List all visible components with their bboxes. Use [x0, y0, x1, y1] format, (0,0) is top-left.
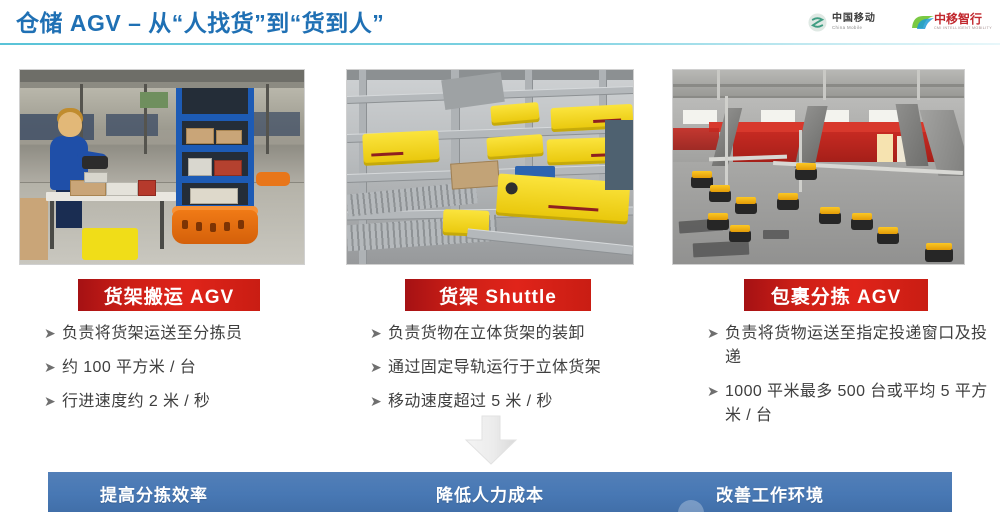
- benefit-item-3: 改善工作环境: [716, 481, 824, 506]
- list-item: ➤ 负责将货物运送至指定投递窗口及投递: [707, 322, 997, 370]
- slide-root: 仓储 AGV – 从“人找货”到“货到人” 中国移动 China Mobile: [0, 0, 1000, 506]
- photo-shelf-transport-agv: [20, 70, 304, 264]
- china-mobile-wordmark: 中国移动 China Mobile: [832, 14, 876, 30]
- arrow-bullet-icon: ➤: [707, 380, 725, 404]
- cmit-wordmark: 中移智行 CMI INTELLIGENT MOBILITY: [934, 13, 992, 31]
- photo-parcel-sorting-agv: [673, 70, 964, 264]
- benefit-item-1: 提高分拣效率: [100, 481, 208, 506]
- china-mobile-swirl-icon: [808, 13, 827, 32]
- decorative-circle-icon: [678, 500, 704, 512]
- arrow-bullet-icon: ➤: [370, 322, 388, 346]
- arrow-bullet-icon: ➤: [44, 322, 62, 346]
- list-item: ➤ 约 100 平方米 / 台: [44, 356, 334, 380]
- column-banner-1: 货架搬运 AGV: [78, 279, 260, 311]
- list-item: ➤ 通过固定导轨运行于立体货架: [370, 356, 670, 380]
- list-item: ➤ 负责货物在立体货架的装卸: [370, 322, 670, 346]
- arrow-bullet-icon: ➤: [44, 390, 62, 414]
- header-divider: [0, 43, 1000, 45]
- column-banner-3: 包裹分拣 AGV: [744, 279, 928, 311]
- logo-group: 中国移动 China Mobile 中移智行 CMI INTELLIGENT M…: [808, 8, 992, 36]
- benefit-item-2: 降低人力成本: [436, 481, 544, 506]
- arrow-bullet-icon: ➤: [44, 356, 62, 380]
- list-item: ➤ 移动速度超过 5 米 / 秒: [370, 390, 670, 414]
- bullet-list-3: ➤ 负责将货物运送至指定投递窗口及投递 ➤ 1000 平米最多 500 台或平均…: [707, 322, 997, 438]
- bullet-list-1: ➤ 负责将货架运送至分拣员 ➤ 约 100 平方米 / 台 ➤ 行进速度约 2 …: [44, 322, 334, 424]
- benefits-bar: 提高分拣效率 降低人力成本 改善工作环境: [48, 472, 952, 512]
- arrow-bullet-icon: ➤: [370, 390, 388, 414]
- arrow-bullet-icon: ➤: [370, 356, 388, 380]
- cmit-swoosh-icon: [910, 13, 929, 32]
- down-arrow-shape: [463, 414, 519, 466]
- page-title: 仓储 AGV – 从“人找货”到“货到人”: [16, 4, 384, 38]
- list-item: ➤ 1000 平米最多 500 台或平均 5 平方米 / 台: [707, 380, 997, 428]
- arrow-bullet-icon: ➤: [707, 322, 725, 346]
- photo-shelf-shuttle: [347, 70, 633, 264]
- column-banner-2: 货架 Shuttle: [405, 279, 591, 311]
- bullet-list-2: ➤ 负责货物在立体货架的装卸 ➤ 通过固定导轨运行于立体货架 ➤ 移动速度超过 …: [370, 322, 670, 424]
- list-item: ➤ 负责将货架运送至分拣员: [44, 322, 334, 346]
- china-mobile-logo: 中国移动 China Mobile: [808, 13, 876, 32]
- slide-header: 仓储 AGV – 从“人找货”到“货到人” 中国移动 China Mobile: [0, 0, 1000, 45]
- list-item: ➤ 行进速度约 2 米 / 秒: [44, 390, 334, 414]
- cmit-logo: 中移智行 CMI INTELLIGENT MOBILITY: [910, 13, 992, 32]
